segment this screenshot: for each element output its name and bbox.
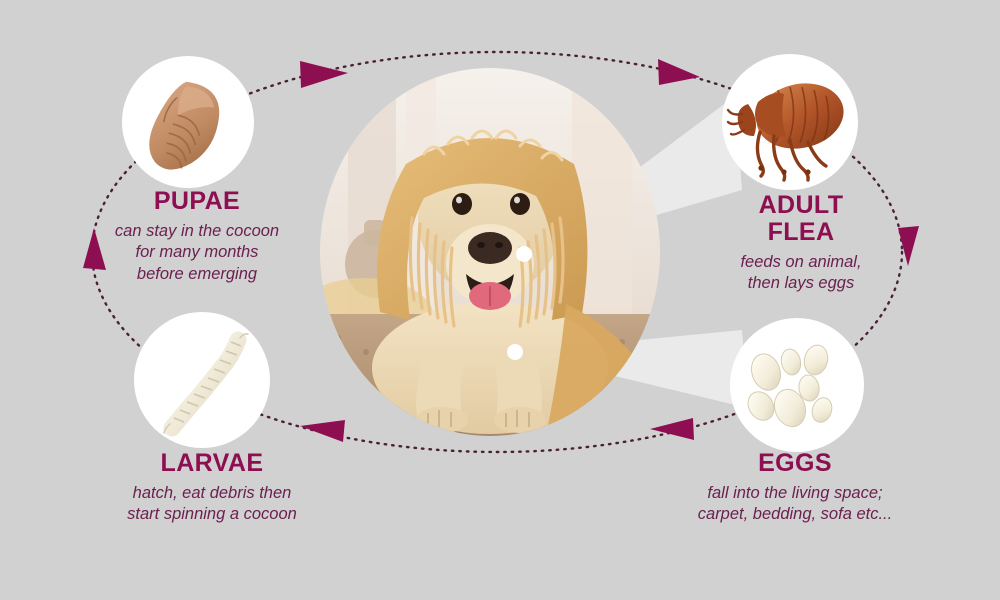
stage-label-pupae: PUPAE can stay in the cocoon for many mo… <box>72 188 322 285</box>
pointer-dot-eggs <box>507 344 523 360</box>
pupa-cocoon-icon <box>139 74 231 181</box>
stage-caption-adult-flea: feeds on animal, then lays eggs <box>676 252 926 295</box>
pointer-dot-adult-flea <box>516 246 532 262</box>
stage-icon-eggs[interactable] <box>730 318 864 452</box>
stage-caption-pupae: can stay in the cocoon for many months b… <box>72 221 322 285</box>
stage-icon-larvae[interactable] <box>134 312 270 448</box>
flea-eggs-icon <box>743 343 835 431</box>
stage-heading-pupae: PUPAE <box>72 188 322 215</box>
infographic-canvas: PUPAE can stay in the cocoon for many mo… <box>0 0 1000 600</box>
stage-caption-eggs: fall into the living space; carpet, bedd… <box>640 483 950 526</box>
adult-flea-icon <box>728 76 850 180</box>
stage-icon-pupae[interactable] <box>122 56 254 188</box>
stage-label-adult-flea: ADULT FLEA feeds on animal, then lays eg… <box>676 192 926 295</box>
stage-label-eggs: EGGS fall into the living space; carpet,… <box>640 450 950 526</box>
stage-caption-larvae: hatch, eat debris then start spinning a … <box>62 483 362 526</box>
stage-heading-eggs: EGGS <box>640 450 950 477</box>
stage-heading-adult-flea: ADULT FLEA <box>676 192 926 246</box>
flea-larva-icon <box>164 334 248 433</box>
stage-label-larvae: LARVAE hatch, eat debris then start spin… <box>62 450 362 526</box>
stage-icon-adult-flea[interactable] <box>722 54 858 190</box>
stage-heading-larvae: LARVAE <box>62 450 362 477</box>
